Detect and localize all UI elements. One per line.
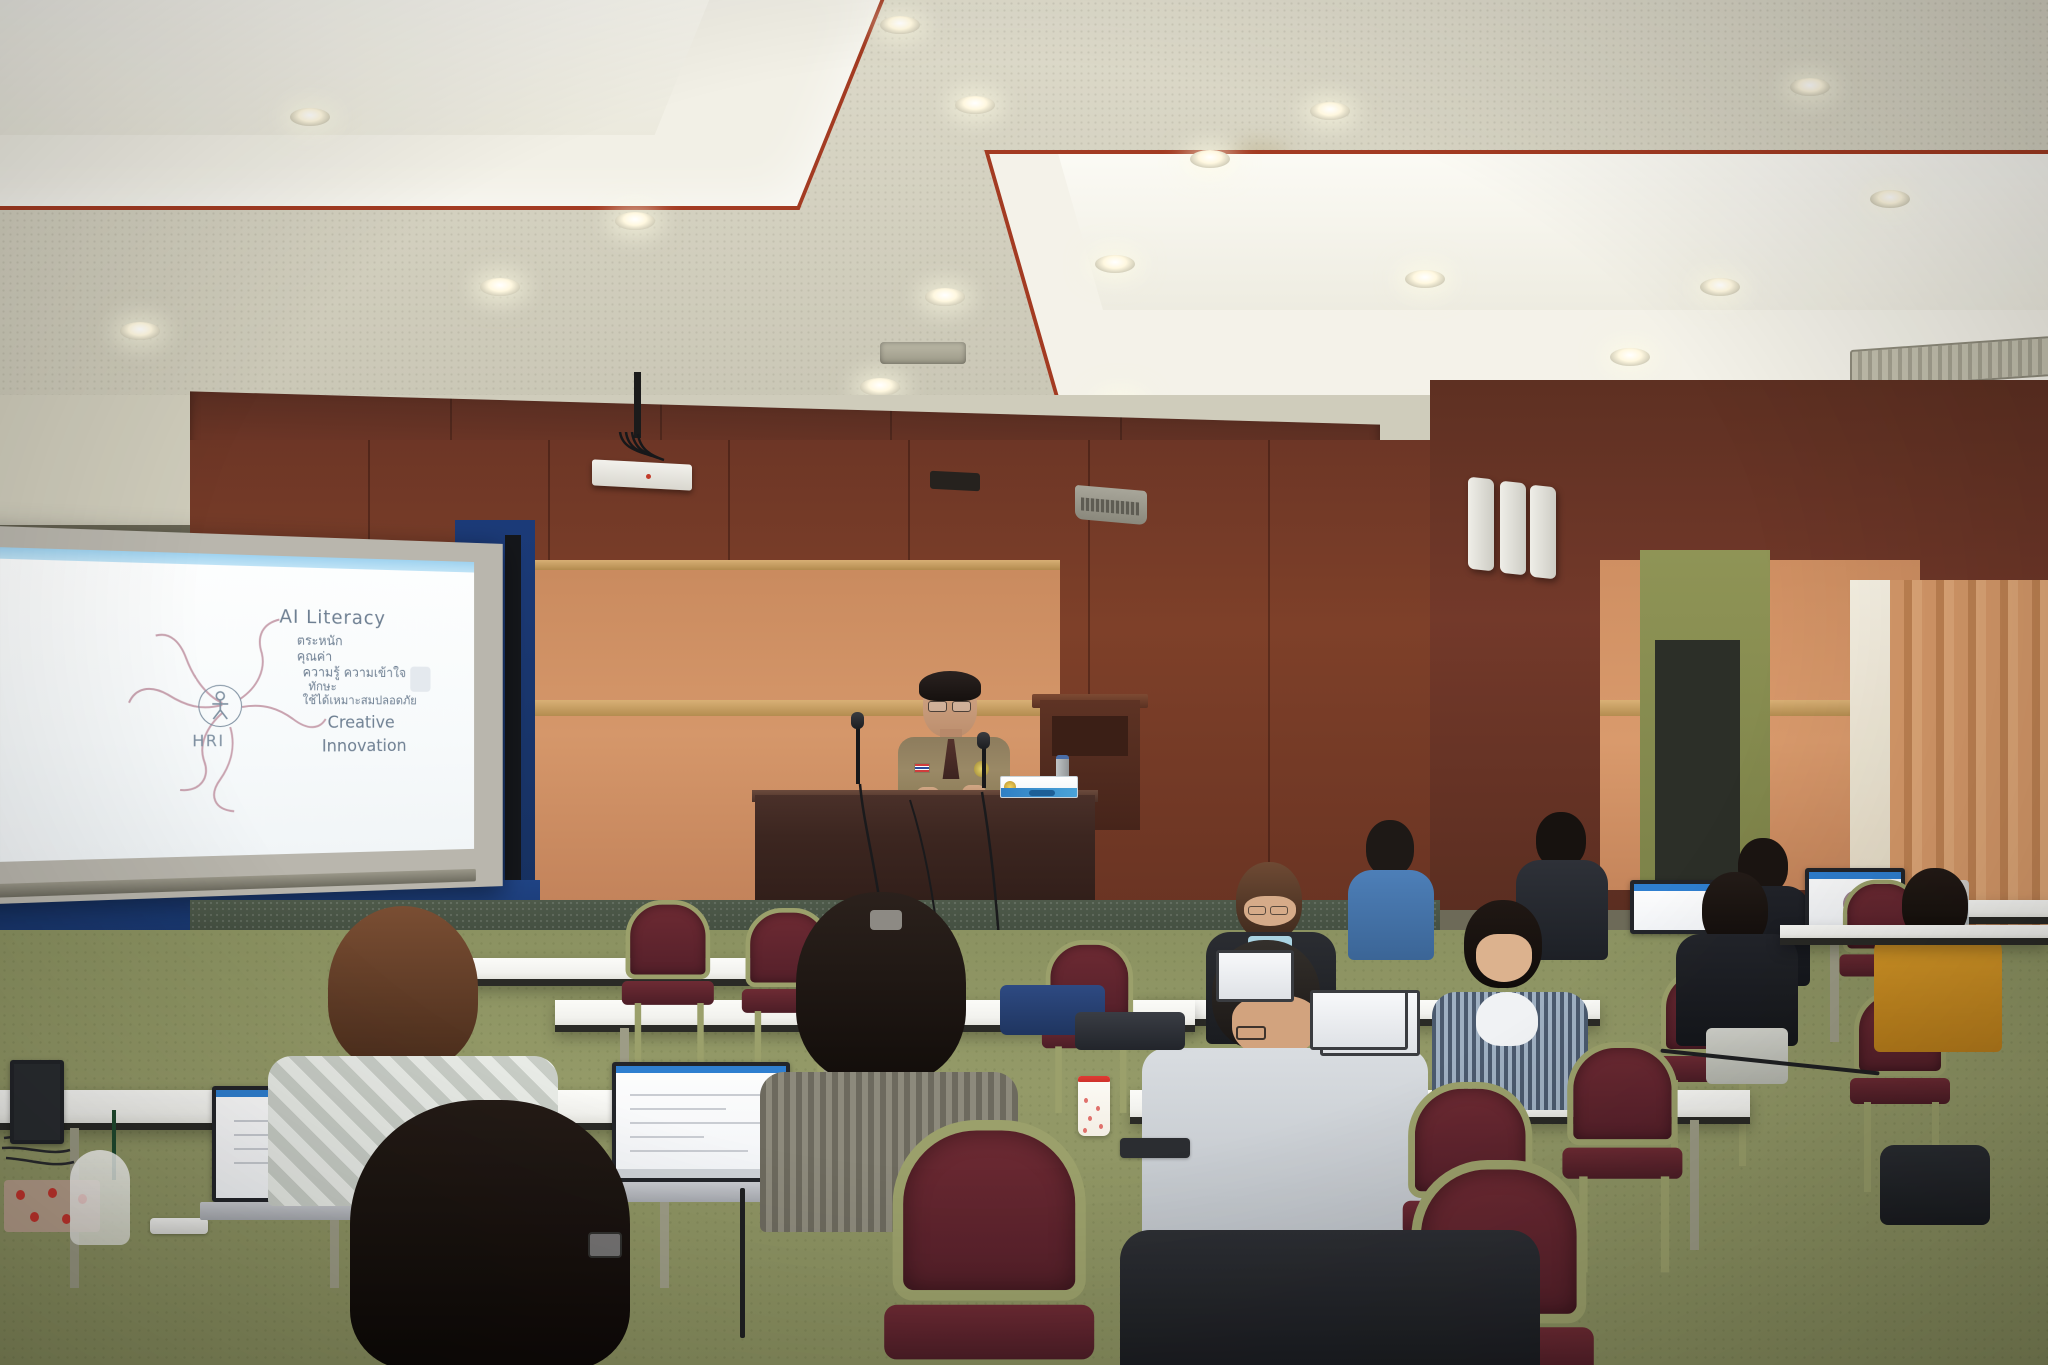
chair-leg: [1864, 1102, 1871, 1192]
wall-speaker-icon: [1468, 477, 1494, 572]
chair[interactable]: [880, 1120, 1098, 1365]
attendee-torso: [1120, 1230, 1540, 1365]
projector-indicator-led: [646, 474, 651, 479]
chair-seat: [1850, 1078, 1950, 1104]
mindmap-center-label: HRI: [192, 731, 224, 750]
downlight: [120, 322, 160, 340]
chair-leg: [1055, 1046, 1062, 1113]
eyeglasses-icon: [928, 701, 947, 712]
screen-frame-edge: [505, 535, 521, 905]
floor-cable: [740, 1188, 745, 1338]
projected-slide: HRI AI Literacy ตระหนัก คุณค่า ความรู้ ค…: [0, 547, 474, 862]
microphone-icon[interactable]: [851, 712, 864, 729]
downlight: [1405, 270, 1445, 288]
downlight: [615, 212, 655, 230]
downlight: [1610, 348, 1650, 366]
mindmap-branch-ai-literacy: AI Literacy: [279, 606, 386, 630]
attendee-torso: [1874, 928, 2002, 1052]
downlight: [1310, 102, 1350, 120]
wall-speaker-icon: [1530, 485, 1556, 580]
eyeglasses-icon: [1270, 906, 1288, 915]
smartphone[interactable]: [1120, 1138, 1190, 1158]
chair-seat: [622, 981, 714, 1005]
conference-room-scene: HRI AI Literacy ตระหนัก คุณค่า ความรู้ ค…: [0, 0, 2048, 1365]
wall-brass-strip: [500, 560, 1060, 570]
chair-seat: [884, 1305, 1094, 1360]
downlight: [480, 278, 520, 296]
downlight: [880, 16, 920, 34]
laptop-screen: [10, 1060, 64, 1144]
downlight: [290, 108, 330, 126]
projection-screen[interactable]: HRI AI Literacy ตระหนัก คุณค่า ความรู้ ค…: [0, 525, 503, 905]
attendee-foreground-back: [330, 1100, 670, 1365]
eyeglasses-icon: [1248, 906, 1266, 915]
table: [1780, 925, 2048, 945]
cup-lid: [1078, 1076, 1110, 1082]
tablet[interactable]: [1216, 950, 1294, 1002]
microphone-icon[interactable]: [977, 732, 990, 749]
attendee-head: [1366, 820, 1414, 876]
chair-back: [626, 900, 711, 979]
downlight: [1700, 278, 1740, 296]
attendee-hair: [328, 906, 478, 1070]
wall-speaker-icon: [930, 471, 980, 492]
downlight: [1790, 78, 1830, 96]
tablet[interactable]: [1310, 990, 1408, 1050]
eyeglasses-icon: [588, 1232, 622, 1258]
stick-figure-icon: [208, 691, 232, 721]
projector-icon: [592, 459, 692, 490]
backpack[interactable]: [1880, 1145, 1990, 1225]
table-leg: [1690, 1120, 1699, 1250]
attendee-lace-collar: [1476, 992, 1538, 1046]
chair-back: [1567, 1042, 1677, 1145]
ceiling-coffer-left-trim: [0, 0, 901, 210]
downlight: [925, 288, 965, 306]
downlight: [1190, 150, 1230, 168]
chair-back: [893, 1120, 1086, 1301]
attendee-mustard-blazer: [1868, 868, 2008, 1068]
eyeglasses-icon: [952, 701, 971, 712]
smartphone[interactable]: [150, 1218, 208, 1234]
presenter-hair: [919, 671, 981, 701]
downlight: [1095, 255, 1135, 273]
attendee: [1340, 820, 1440, 950]
eyeglasses-icon: [1236, 1026, 1266, 1040]
ceiling-vent: [880, 342, 966, 364]
slide-scroll-widget[interactable]: [410, 667, 430, 692]
chair-leg: [1120, 1046, 1127, 1113]
downlight: [1870, 190, 1910, 208]
downlight: [860, 378, 900, 396]
chair[interactable]: [620, 900, 716, 1018]
chair-leg: [635, 1003, 641, 1066]
mindmap-subitem-5: ใช้ได้เหมาะสมปลอดภัย: [303, 691, 417, 710]
downlight: [955, 96, 995, 114]
projector-mount-pole: [634, 372, 641, 438]
mindmap-branch-innovation: Innovation: [322, 736, 407, 756]
air-conditioner-icon: [1075, 485, 1147, 525]
mindmap-branch-creative: Creative: [328, 713, 395, 733]
chair-leg: [697, 1003, 703, 1066]
wall-speaker-icon: [1500, 481, 1526, 576]
attendee-black-blazer: [1672, 872, 1802, 1062]
attendee-face: [1476, 934, 1532, 982]
chair-leg: [1661, 1176, 1669, 1272]
hair-clip-icon: [870, 910, 902, 930]
laptop-sleeve: [1075, 1012, 1185, 1050]
attendee-foreground-right: [1120, 1230, 1540, 1365]
podium-panel: [1052, 716, 1128, 756]
